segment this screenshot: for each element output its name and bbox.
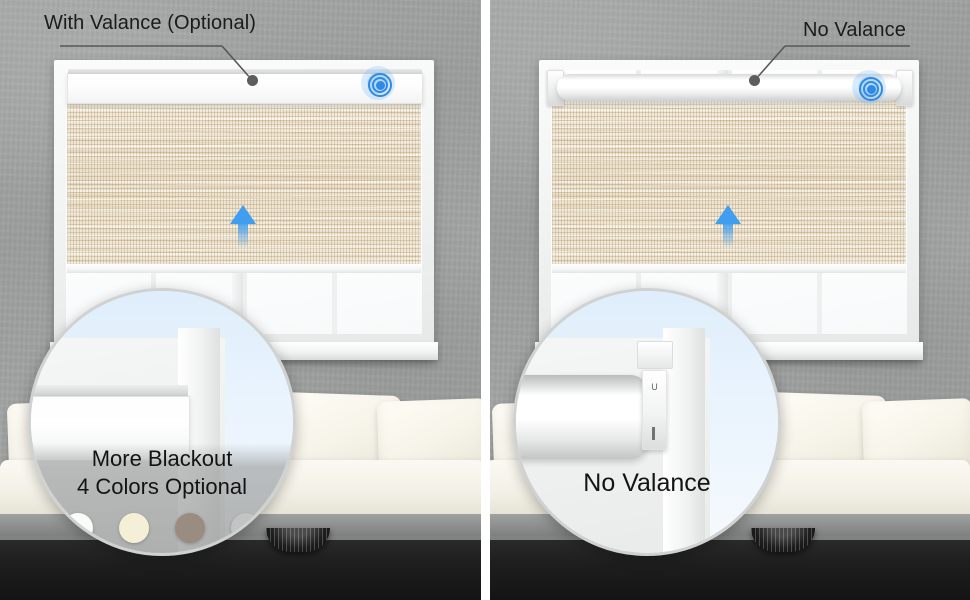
arrow-shaft xyxy=(238,221,248,247)
bracket-slot xyxy=(652,427,655,440)
magnifier-circle-with-valance: More Blackout 4 Colors Optional xyxy=(28,288,296,556)
color-swatch-cream[interactable] xyxy=(119,513,149,543)
shade-fabric-panel xyxy=(552,100,906,273)
panel-divider xyxy=(481,0,490,600)
panel-no-valance: No Valance U No Valance xyxy=(485,0,970,600)
magnifier-circle-no-valance: U No Valance xyxy=(513,288,781,556)
bracket-u-label: U xyxy=(643,382,667,392)
color-swatch-taupe[interactable] xyxy=(175,513,205,543)
comparison-image: With Valance (Optional) More Blackout 4 … xyxy=(0,0,970,600)
shade-bottom-rail xyxy=(552,264,906,273)
panel-with-valance: With Valance (Optional) More Blackout 4 … xyxy=(0,0,485,600)
magnifier-mounting-bracket: U xyxy=(642,370,668,451)
callout-leader-line xyxy=(485,0,970,110)
callout-label-no-valance: No Valance xyxy=(803,19,906,42)
color-swatch-gray[interactable] xyxy=(231,513,261,543)
shade-fabric-texture xyxy=(67,101,421,273)
color-swatch-row xyxy=(31,513,293,543)
shade-bottom-rail xyxy=(67,264,421,273)
arrow-shaft xyxy=(723,221,733,247)
magnifier-title-line-2: 4 Colors Optional xyxy=(31,474,293,500)
magnifier-bracket-hook xyxy=(637,341,673,369)
up-arrow-icon xyxy=(230,205,256,247)
callout-leader-dot xyxy=(749,75,760,86)
shade-fabric-texture xyxy=(552,100,906,273)
color-swatch-white[interactable] xyxy=(63,513,93,543)
callout-leader-dot xyxy=(247,75,258,86)
magnifier-title-line-1: More Blackout xyxy=(31,446,293,472)
up-arrow-icon xyxy=(715,205,741,247)
magnifier-roller-tube xyxy=(513,375,647,459)
shade-fabric-panel xyxy=(67,101,421,273)
magnifier-title-line-1: No Valance xyxy=(516,469,778,499)
callout-label-with-valance: With Valance (Optional) xyxy=(44,12,256,35)
